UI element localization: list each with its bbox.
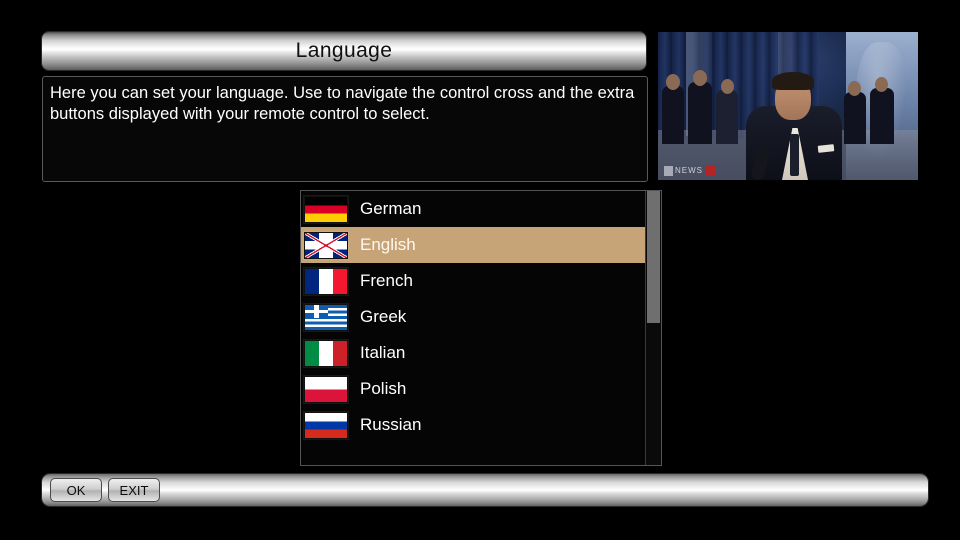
language-label: Russian [360,415,421,435]
language-list-item[interactable]: German [301,191,661,227]
flag-germany-icon [304,196,348,223]
page-title-bar: Language [42,32,646,70]
language-label: Polish [360,379,406,399]
language-list-item[interactable]: Italian [301,335,661,371]
description-panel: Here you can set your language. Use to n… [42,76,648,182]
ok-button[interactable]: OK [50,478,102,502]
language-label: French [360,271,413,291]
flag-russia-icon [304,412,348,439]
list-scrollbar-track[interactable] [645,191,661,465]
language-list-item[interactable]: French [301,263,661,299]
flag-greece-icon [304,304,348,331]
reporter-hair [772,72,814,90]
video-preview[interactable]: NEWS [658,32,918,180]
footer-button-bar: OK EXIT [42,474,928,506]
flag-united-kingdom-icon [304,232,348,259]
language-label: German [360,199,421,219]
flag-poland-icon [304,376,348,403]
language-list-item[interactable]: Polish [301,371,661,407]
channel-watermark: NEWS [664,165,715,176]
description-text: Here you can set your language. Use to n… [50,83,638,124]
flag-france-icon [304,268,348,295]
language-label: Italian [360,343,405,363]
exit-button[interactable]: EXIT [108,478,160,502]
tv-settings-screen: Language Here you can set your language.… [0,0,960,540]
page-title: Language [296,39,393,63]
list-scrollbar-thumb[interactable] [647,191,660,323]
language-label: Greek [360,307,406,327]
language-list-item[interactable]: Russian [301,407,661,443]
flag-italy-icon [304,340,348,367]
language-list-item[interactable]: Greek [301,299,661,335]
language-list[interactable]: GermanEnglishFrenchGreekItalianPolishRus… [300,190,662,466]
language-label: English [360,235,416,255]
reporter-tie [790,134,799,176]
watermark-label: NEWS [675,166,703,175]
language-list-item[interactable]: English [301,227,661,263]
